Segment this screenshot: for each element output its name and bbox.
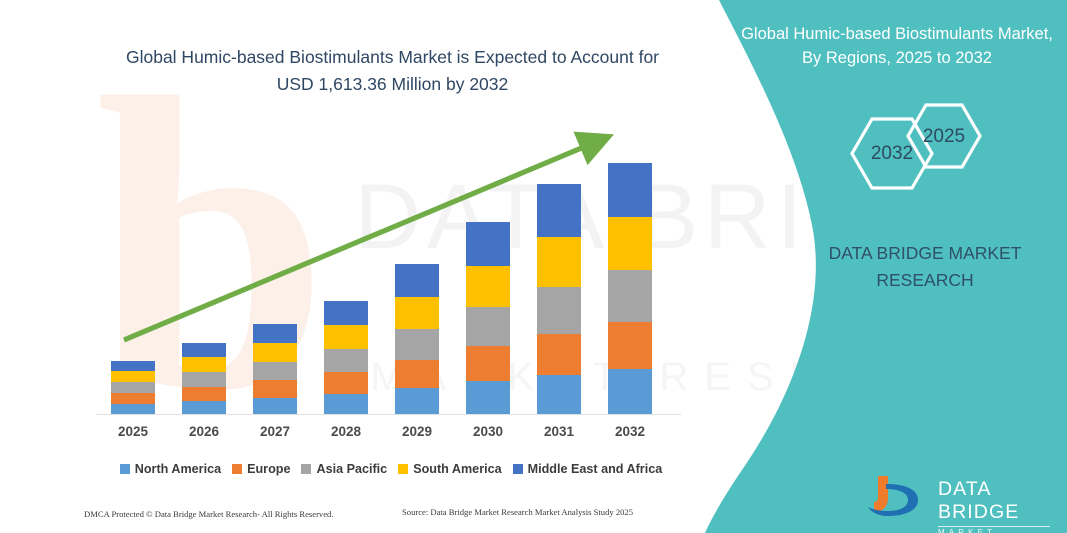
x-axis-labels: 2025 2026 2027 2028 2029 2030 2031 2032 bbox=[96, 424, 686, 446]
legend-label: North America bbox=[135, 462, 221, 476]
logo-sub-text: MARKET RESEARCH bbox=[938, 528, 1067, 533]
hexagon-label-2032: 2032 bbox=[862, 143, 922, 165]
segment-asia-pacific bbox=[395, 329, 439, 360]
legend-label: Asia Pacific bbox=[316, 462, 387, 476]
legend-item-asia-pacific[interactable]: Asia Pacific bbox=[301, 462, 387, 476]
segment-south-america bbox=[537, 237, 581, 287]
legend-swatch-icon bbox=[398, 464, 408, 474]
x-tick-2027: 2027 bbox=[245, 424, 305, 439]
bar-2028[interactable] bbox=[324, 301, 368, 415]
segment-middle-east-and-africa bbox=[537, 184, 581, 237]
footer-copyright: DMCA Protected © Data Bridge Market Rese… bbox=[84, 509, 334, 519]
segment-south-america bbox=[395, 297, 439, 329]
x-tick-2029: 2029 bbox=[387, 424, 447, 439]
panel-brand-text: DATA BRIDGE MARKET RESEARCH bbox=[790, 240, 1060, 294]
chart-legend: North America Europe Asia Pacific South … bbox=[96, 459, 686, 479]
segment-north-america bbox=[253, 398, 297, 415]
segment-asia-pacific bbox=[324, 349, 368, 372]
infographic-canvas: b DATA BRIDGE MARKET RESEARCH Global Hum… bbox=[0, 0, 1067, 533]
segment-south-america bbox=[111, 371, 155, 382]
segment-europe bbox=[111, 393, 155, 404]
segment-asia-pacific bbox=[608, 270, 652, 322]
bar-2031[interactable] bbox=[537, 184, 581, 415]
legend-label: South America bbox=[413, 462, 501, 476]
legend-swatch-icon bbox=[120, 464, 130, 474]
x-tick-2031: 2031 bbox=[529, 424, 589, 439]
segment-north-america bbox=[466, 381, 510, 415]
legend-item-south-america[interactable]: South America bbox=[398, 462, 501, 476]
segment-middle-east-and-africa bbox=[466, 222, 510, 266]
segment-south-america bbox=[608, 217, 652, 270]
segment-north-america bbox=[182, 401, 226, 415]
bar-2027[interactable] bbox=[253, 324, 297, 415]
segment-europe bbox=[608, 322, 652, 369]
legend-item-north-america[interactable]: North America bbox=[120, 462, 221, 476]
legend-item-middle-east-and-africa[interactable]: Middle East and Africa bbox=[513, 462, 663, 476]
segment-south-america bbox=[466, 266, 510, 307]
segment-middle-east-and-africa bbox=[253, 324, 297, 343]
x-tick-2025: 2025 bbox=[103, 424, 163, 439]
legend-swatch-icon bbox=[301, 464, 311, 474]
x-tick-2028: 2028 bbox=[316, 424, 376, 439]
bar-2032[interactable] bbox=[608, 163, 652, 415]
legend-item-europe[interactable]: Europe bbox=[232, 462, 290, 476]
chart-title: Global Humic-based Biostimulants Market … bbox=[120, 44, 665, 98]
segment-north-america bbox=[324, 394, 368, 415]
segment-europe bbox=[395, 360, 439, 388]
segment-south-america bbox=[253, 343, 297, 362]
segment-middle-east-and-africa bbox=[608, 163, 652, 217]
segment-north-america bbox=[537, 375, 581, 415]
bar-chart-plot bbox=[96, 120, 686, 415]
footer-source: Source: Data Bridge Market Research Mark… bbox=[402, 507, 633, 517]
hexagon-label-2025: 2025 bbox=[914, 126, 974, 148]
bar-2026[interactable] bbox=[182, 343, 226, 415]
segment-europe bbox=[537, 334, 581, 375]
x-tick-2030: 2030 bbox=[458, 424, 518, 439]
segment-north-america bbox=[608, 369, 652, 415]
segment-asia-pacific bbox=[466, 307, 510, 346]
legend-swatch-icon bbox=[232, 464, 242, 474]
segment-europe bbox=[182, 387, 226, 401]
legend-label: Europe bbox=[247, 462, 290, 476]
bar-2029[interactable] bbox=[395, 264, 439, 415]
logo-wordmark: DATA BRIDGE MARKET RESEARCH bbox=[938, 478, 1067, 533]
legend-swatch-icon bbox=[513, 464, 523, 474]
segment-middle-east-and-africa bbox=[111, 361, 155, 371]
segment-europe bbox=[466, 346, 510, 381]
segment-north-america bbox=[395, 388, 439, 415]
segment-asia-pacific bbox=[537, 287, 581, 334]
bar-2025[interactable] bbox=[111, 361, 155, 415]
segment-europe bbox=[324, 372, 368, 394]
segment-south-america bbox=[182, 357, 226, 372]
segment-asia-pacific bbox=[182, 372, 226, 387]
segment-middle-east-and-africa bbox=[182, 343, 226, 357]
segment-asia-pacific bbox=[253, 362, 297, 380]
year-hexagon-group: 2032 2025 bbox=[820, 96, 1010, 211]
logo-main-text: DATA BRIDGE bbox=[938, 478, 1067, 524]
logo-divider bbox=[938, 526, 1050, 527]
x-tick-2026: 2026 bbox=[174, 424, 234, 439]
bar-2030[interactable] bbox=[466, 222, 510, 415]
legend-label: Middle East and Africa bbox=[528, 462, 663, 476]
segment-europe bbox=[253, 380, 297, 398]
segment-middle-east-and-africa bbox=[395, 264, 439, 297]
x-axis-line bbox=[96, 414, 681, 415]
panel-title: Global Humic-based Biostimulants Market,… bbox=[737, 22, 1057, 70]
data-bridge-b-mark-icon bbox=[866, 474, 936, 520]
segment-asia-pacific bbox=[111, 382, 155, 393]
segment-middle-east-and-africa bbox=[324, 301, 368, 325]
segment-south-america bbox=[324, 325, 368, 349]
